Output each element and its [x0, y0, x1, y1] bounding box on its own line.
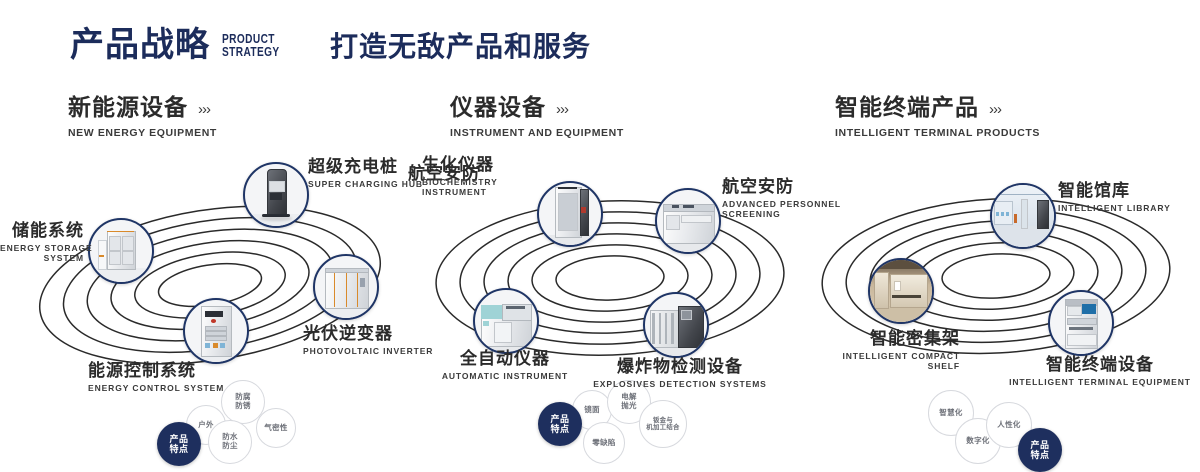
- node-label-cn: 爆炸物检测设备: [590, 358, 770, 376]
- chevron-right-icon: ›››: [556, 102, 568, 119]
- node-bubble-automatic-instrument[interactable]: [473, 288, 539, 354]
- node-label-intelligent-compact-shelf: 智能密集架 INTELLIGENT COMPACT SHELF: [810, 330, 960, 372]
- feature-label: 机加工结合: [646, 424, 679, 431]
- feature-label: 防尘: [222, 441, 238, 450]
- node-label-cn: 智能馆库: [1058, 182, 1171, 200]
- feature-label: 零缺陷: [592, 438, 615, 447]
- page-title-en: PRODUCT STRATEGY: [222, 32, 280, 58]
- node-label-energy-control-system: 能源控制系统 ENERGY CONTROL SYSTEM: [88, 362, 224, 393]
- automatic-instrument-icon: [475, 290, 537, 352]
- section-title-en: INSTRUMENT AND EQUIPMENT: [450, 127, 624, 139]
- core-label-line1: 产品: [169, 434, 188, 444]
- feature-bubble-waterproof: 防水 防尘: [208, 420, 252, 464]
- node-bubble-intelligent-compact-shelf[interactable]: [868, 258, 934, 324]
- explosives-detector-icon: [645, 294, 707, 356]
- node-label-cn: 智能终端设备: [1000, 356, 1200, 374]
- section-title-en: NEW ENERGY EQUIPMENT: [68, 127, 217, 139]
- charging-pile-icon: [245, 164, 307, 226]
- node-label-en: EXPLOSIVES DETECTION SYSTEMS: [590, 379, 770, 390]
- page-title-cn: 产品战略: [70, 28, 210, 62]
- product-strategy-infographic: 产品战略 PRODUCT STRATEGY 打造无敌产品和服务 新能源设备 ››…: [0, 0, 1200, 422]
- node-label-intelligent-library: 智能馆库 INTELLIGENT LIBRARY: [1058, 182, 1171, 213]
- chevron-right-icon: ›››: [198, 102, 210, 119]
- node-label-automatic-instrument: 全自动仪器 AUTOMATIC INSTRUMENT: [410, 350, 600, 381]
- feature-bubble-airtightness: 气密性: [256, 408, 296, 448]
- feature-label: 气密性: [264, 423, 287, 432]
- cluster-new-energy-equipment: 户外 防腐 防锈 防水 防尘 气密性 产品 特点: [0, 150, 420, 410]
- cluster-intelligent-terminal-products: 智慧化 数字化 人性化 产品 特点: [800, 150, 1200, 410]
- page-title-en-line2: STRATEGY: [222, 45, 280, 58]
- section-title-instrument: 仪器设备 ››› INSTRUMENT AND EQUIPMENT: [450, 96, 624, 139]
- node-label-en: INTELLIGENT LIBRARY: [1058, 203, 1171, 214]
- core-label-line2: 特点: [169, 444, 188, 454]
- compact-shelf-icon: [870, 260, 932, 322]
- self-service-kiosk-icon: [1050, 292, 1112, 354]
- page-subtitle: 打造无敌产品和服务: [330, 33, 591, 61]
- node-bubble-biochemistry-instrument[interactable]: [537, 181, 603, 247]
- core-label-line1: 产品: [550, 414, 569, 424]
- biochemistry-analyzer-icon: [539, 183, 601, 245]
- section-title-cn: 智能终端产品: [835, 96, 979, 119]
- node-bubble-energy-control-system[interactable]: [183, 298, 249, 364]
- node-label-en: INTELLIGENT TERMINAL EQUIPMENT: [1000, 377, 1200, 388]
- energy-storage-cabinet-icon: [90, 220, 152, 282]
- core-label-line2: 特点: [550, 424, 569, 434]
- page-title: 产品战略 PRODUCT STRATEGY: [70, 28, 296, 62]
- feature-label: 人性化: [997, 420, 1020, 429]
- node-bubble-super-charging-hub[interactable]: [243, 162, 309, 228]
- node-label-en: BIOCHEMISTRY INSTRUMENT: [422, 177, 498, 198]
- feature-label: 抛光: [621, 401, 637, 410]
- node-label-en: ENERGY CONTROL SYSTEM: [88, 383, 224, 394]
- cluster-instrument-and-equipment: 镜面 电解 抛光 钣金与 机加工结合 零缺陷 产品 特点 航空安防: [400, 150, 820, 410]
- node-label-en: INTELLIGENT COMPACT SHELF: [810, 351, 960, 372]
- control-cabinet-icon: [185, 300, 247, 362]
- section-title-new-energy: 新能源设备 ››› NEW ENERGY EQUIPMENT: [68, 96, 217, 139]
- feature-label: 防锈: [235, 401, 251, 410]
- node-bubble-intelligent-library[interactable]: [990, 183, 1056, 249]
- section-title-cn: 新能源设备: [68, 96, 188, 119]
- core-bubble-product-features: 产品 特点: [157, 422, 201, 466]
- node-label-cn: 智能密集架: [810, 330, 960, 348]
- node-label-en: AUTOMATIC INSTRUMENT: [410, 371, 600, 382]
- node-bubble-explosives-detection[interactable]: [643, 292, 709, 358]
- node-label-cn: 生化仪器: [422, 156, 498, 174]
- feature-bubble-sheetmetal-machining: 钣金与 机加工结合: [639, 400, 687, 448]
- pv-inverter-icon: [315, 256, 377, 318]
- node-label-en: ENERGY STORAGE SYSTEM: [0, 243, 84, 264]
- feature-bubble-zero-defect: 零缺陷: [583, 422, 625, 464]
- section-title-cn: 仪器设备: [450, 96, 546, 119]
- feature-label: 数字化: [966, 436, 989, 445]
- library-room-icon: [992, 185, 1054, 247]
- node-label-energy-storage: 储能系统 ENERGY STORAGE SYSTEM: [0, 222, 84, 264]
- feature-label: 智慧化: [939, 408, 962, 417]
- node-bubble-pv-inverter[interactable]: [313, 254, 379, 320]
- feature-label: 户外: [198, 420, 214, 429]
- node-label-cn: 能源控制系统: [88, 362, 224, 380]
- node-bubble-energy-storage[interactable]: [88, 218, 154, 284]
- core-bubble-product-features: 产品 特点: [538, 402, 582, 446]
- core-label-line1: 产品: [1030, 440, 1049, 450]
- node-label-intelligent-terminal-equipment: 智能终端设备 INTELLIGENT TERMINAL EQUIPMENT: [1000, 356, 1200, 387]
- feature-label: 镜面: [584, 405, 600, 414]
- section-title-intelligent-terminal: 智能终端产品 ››› INTELLIGENT TERMINAL PRODUCTS: [835, 96, 1040, 139]
- node-label-biochemistry-instrument: 生化仪器 BIOCHEMISTRY INSTRUMENT: [422, 156, 498, 198]
- section-title-en: INTELLIGENT TERMINAL PRODUCTS: [835, 127, 1040, 139]
- screening-machine-icon: [657, 190, 719, 252]
- node-label-explosives-detection: 爆炸物检测设备 EXPLOSIVES DETECTION SYSTEMS: [590, 358, 770, 389]
- chevron-right-icon: ›››: [989, 102, 1001, 119]
- core-bubble-product-features: 产品 特点: [1018, 428, 1062, 472]
- core-label-line2: 特点: [1030, 450, 1049, 460]
- node-bubble-advanced-personnel-screening[interactable]: [655, 188, 721, 254]
- feature-label: 钣金与: [653, 417, 673, 424]
- node-label-cn: 全自动仪器: [410, 350, 600, 368]
- node-label-cn: 储能系统: [0, 222, 84, 240]
- node-bubble-intelligent-terminal-equipment[interactable]: [1048, 290, 1114, 356]
